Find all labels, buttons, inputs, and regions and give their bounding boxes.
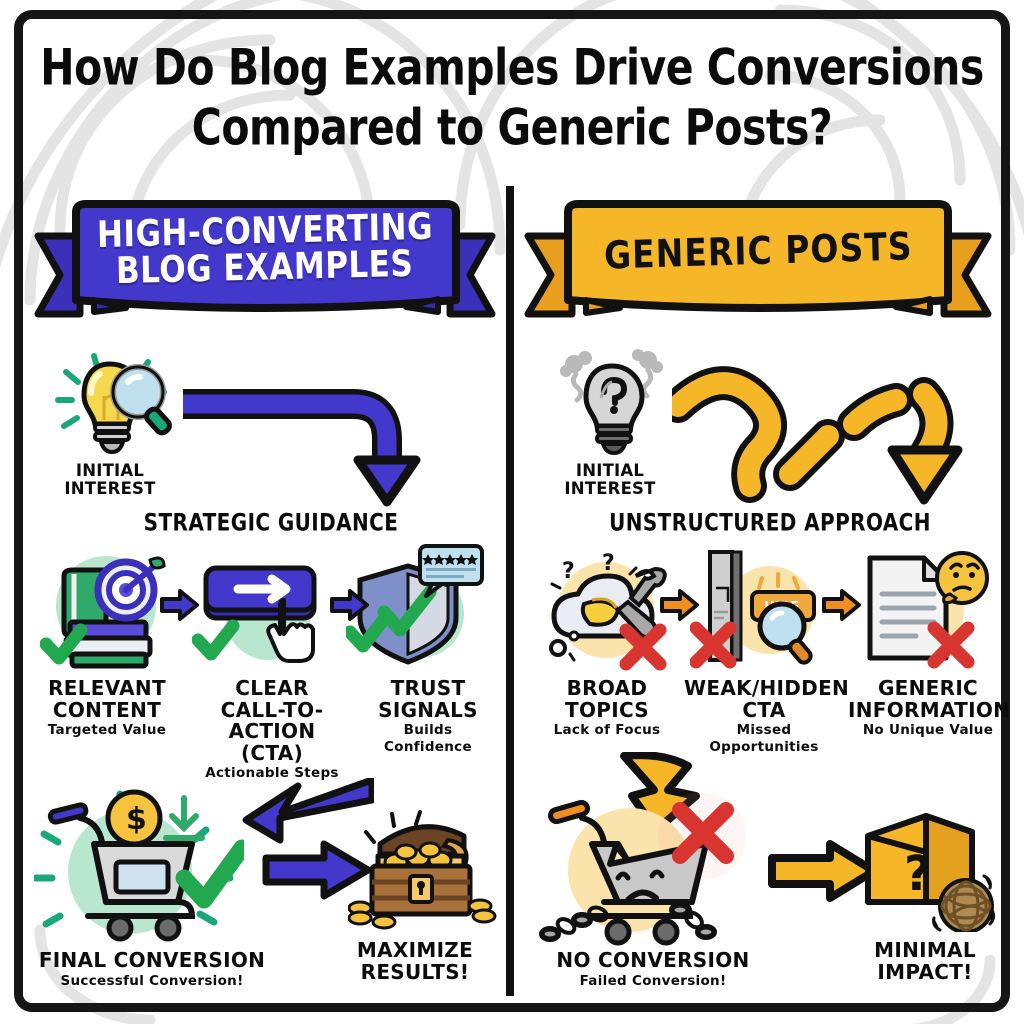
svg-text:?: ? [904, 846, 932, 902]
left-step-1-title-1: RELEVANT [32, 678, 182, 700]
left-step-1-title-2: CONTENT [32, 700, 182, 722]
page-title: How Do Blog Examples Drive Conversions C… [40, 42, 984, 144]
mystery-box-tumbleweed-icon: ? [856, 798, 996, 932]
left-step-3-title-2: SIGNALS [358, 700, 498, 722]
right-initial-line-1: INITIAL [530, 462, 690, 480]
right-reward-title-1: MINIMAL [840, 940, 1010, 962]
svg-text:?: ? [602, 551, 615, 576]
left-outcome-title: FINAL CONVERSION [20, 950, 284, 972]
ribbon-shape-yellow [524, 196, 992, 320]
lightbulb-question-smoke-icon [552, 348, 672, 460]
right-step-2-title-1: WEAK/HIDDEN [684, 678, 844, 700]
left-initial-interest-label: INITIAL INTEREST [30, 462, 190, 499]
right-section-heading: UNSTRUCTURED APPROACH [590, 508, 950, 537]
ribbon-shape-blue [34, 196, 496, 320]
treasure-chest-icon [348, 800, 498, 930]
left-step-3-label: TRUST SIGNALS Builds Confidence [358, 678, 498, 754]
books-target-icon [40, 548, 170, 670]
left-reward-label: MAXIMIZE RESULTS! [330, 940, 500, 983]
svg-text:?: ? [562, 559, 575, 584]
cta-button-cursor-icon [192, 556, 332, 670]
right-step-1-label: BROAD TOPICS Lack of Focus [532, 678, 682, 738]
left-step-arrow-1-icon [160, 588, 200, 622]
right-reward-label: MINIMAL IMPACT! [840, 940, 1010, 983]
column-divider [506, 186, 514, 996]
right-step-3-label: GENERIC INFORMATION No Unique Value [848, 678, 1008, 738]
left-step-3-sub-1: Builds [358, 723, 498, 738]
curved-blue-arrow-icon [175, 378, 445, 508]
cloud-banana-wrench-icon: ?? [540, 548, 676, 672]
title-line-2: Compared to Generic Posts? [40, 102, 984, 154]
broken-cart-chains-icon [530, 782, 748, 954]
left-column-banner: HIGH-CONVERTING BLOG EXAMPLES [34, 196, 496, 320]
left-outcome-label: FINAL CONVERSION Successful Conversion! [20, 950, 284, 988]
left-outcome-sub: Successful Conversion! [20, 974, 284, 989]
shopping-cart-coin-check-icon: $ [34, 782, 244, 950]
lightbulb-magnifier-icon [52, 348, 172, 460]
right-initial-line-2: INTEREST [530, 480, 690, 498]
left-step-2-title-2: CALL-TO-ACTION [182, 700, 362, 743]
right-step-1-title-2: TOPICS [532, 700, 682, 722]
right-reward-title-2: IMPACT! [840, 962, 1010, 984]
left-step-arrow-2-icon [330, 588, 370, 622]
title-line-1: How Do Blog Examples Drive Conversions [40, 42, 984, 94]
document-confused-face-icon [850, 548, 990, 672]
right-step-3-title-1: GENERIC [848, 678, 1008, 700]
svg-text:$: $ [126, 802, 147, 837]
right-initial-interest-label: INITIAL INTEREST [530, 462, 690, 499]
right-step-2-label: WEAK/HIDDEN CTA Missed Opportunities [684, 678, 844, 754]
right-step-arrow-2-icon [822, 588, 862, 622]
left-section-heading: STRATEGIC GUIDANCE [106, 508, 436, 537]
left-step-3-title-1: TRUST [358, 678, 498, 700]
right-step-1-title-1: BROAD [532, 678, 682, 700]
left-step-2-title-3: (CTA) [182, 743, 362, 765]
left-step-1-label: RELEVANT CONTENT Targeted Value [32, 678, 182, 738]
right-step-2-title-2: CTA [684, 700, 844, 722]
left-reward-title-2: RESULTS! [330, 962, 500, 984]
infographic-poster: How Do Blog Examples Drive Conversions C… [0, 0, 1024, 1024]
right-outcome-label: NO CONVERSION Failed Conversion! [528, 950, 778, 988]
left-reward-title-1: MAXIMIZE [330, 940, 500, 962]
left-initial-line-2: INTEREST [30, 480, 190, 498]
left-step-1-sub-1: Targeted Value [32, 723, 182, 738]
left-step-2-label: CLEAR CALL-TO-ACTION (CTA) Actionable St… [182, 678, 362, 781]
right-step-2-sub-1: Missed [684, 723, 844, 738]
squiggly-broken-yellow-arrow-icon [672, 362, 982, 507]
left-step-2-title-1: CLEAR [182, 678, 362, 700]
right-step-arrow-1-icon [660, 588, 700, 622]
right-outcome-title: NO CONVERSION [528, 950, 778, 972]
right-outcome-sub: Failed Conversion! [528, 974, 778, 989]
right-step-3-title-2: INFORMATION [848, 700, 1008, 722]
hidden-cta-magnifier-icon: HIDE [690, 548, 830, 672]
right-step-3-sub-1: No Unique Value [848, 723, 1008, 738]
right-step-1-sub-1: Lack of Focus [532, 723, 682, 738]
right-column-banner: GENERIC POSTS [524, 196, 992, 320]
left-step-3-sub-2: Confidence [358, 740, 498, 755]
left-initial-line-1: INITIAL [30, 462, 190, 480]
